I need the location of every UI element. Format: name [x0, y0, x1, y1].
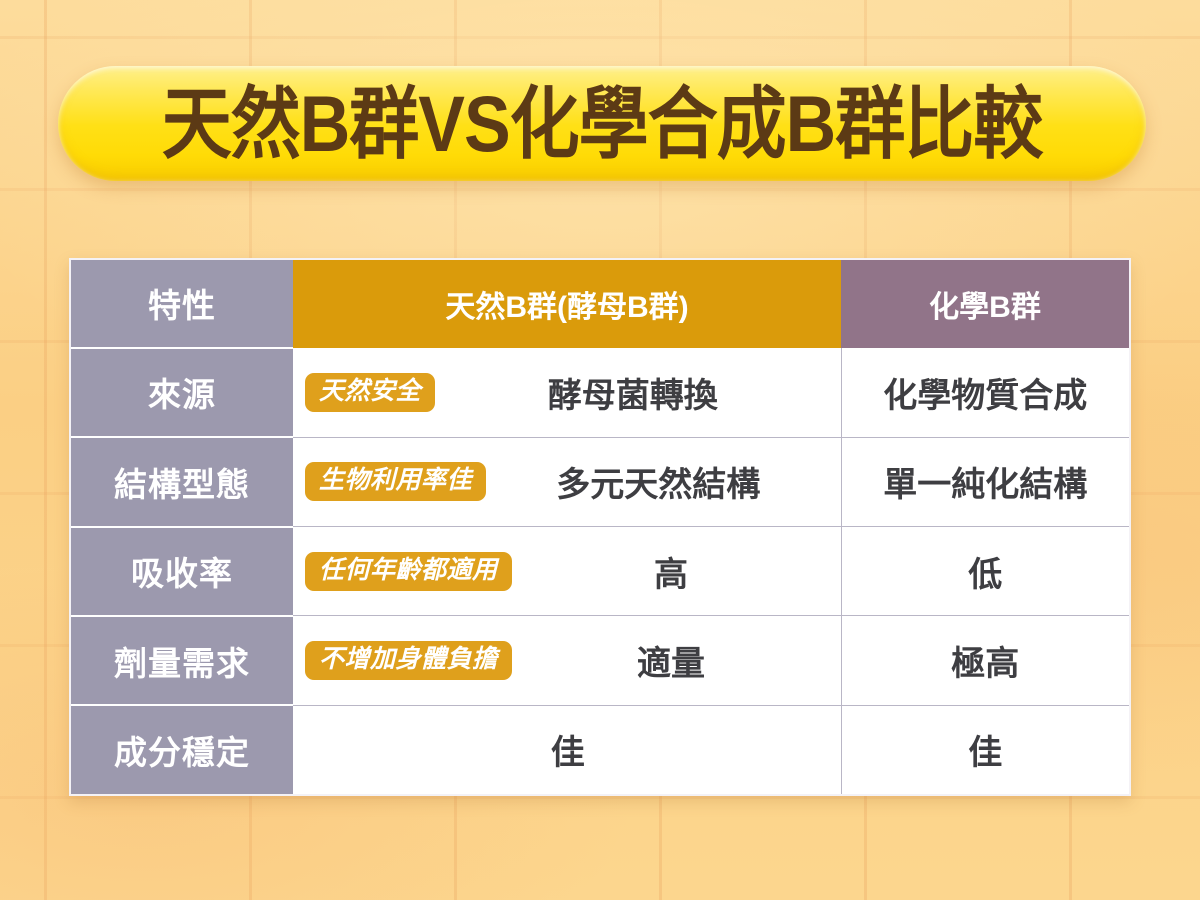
row-chemical-value: 化學物質合成: [841, 348, 1129, 437]
infographic-stage: 天然B群VS化學合成B群比較 特性 天然B群(酵母B群) 化學B群 來源: [0, 0, 1200, 900]
row-natural-cell: 佳: [293, 705, 841, 794]
row-chemical-value: 低: [841, 527, 1129, 616]
comparison-table: 特性 天然B群(酵母B群) 化學B群 來源 天然安全 酵母菌轉換 化學物質合成: [69, 258, 1131, 796]
header-cell-feature: 特性: [71, 260, 293, 348]
row-natural-cell: 不增加身體負擔 適量: [293, 616, 841, 705]
row-chemical-value: 單一純化結構: [841, 437, 1129, 526]
row-chemical-value: 佳: [841, 705, 1129, 794]
title-banner: 天然B群VS化學合成B群比較: [58, 66, 1146, 181]
row-natural-value: 適量: [512, 636, 831, 685]
row-natural-cell: 生物利用率佳 多元天然結構: [293, 437, 841, 526]
table-row: 來源 天然安全 酵母菌轉換 化學物質合成: [71, 348, 1129, 437]
highlight-badge: 任何年齡都適用: [305, 552, 512, 591]
row-feature-label: 結構型態: [71, 437, 293, 526]
row-natural-value: 多元天然結構: [486, 457, 830, 506]
header-cell-natural: 天然B群(酵母B群): [293, 260, 841, 348]
highlight-badge: 天然安全: [305, 373, 435, 412]
row-feature-label: 成分穩定: [71, 705, 293, 794]
row-natural-cell: 任何年齡都適用 高: [293, 527, 841, 616]
highlight-badge: 生物利用率佳: [305, 462, 486, 501]
table-row: 吸收率 任何年齡都適用 高 低: [71, 527, 1129, 616]
highlight-badge: 不增加身體負擔: [305, 641, 512, 680]
row-natural-cell: 天然安全 酵母菌轉換: [293, 348, 841, 437]
row-feature-label: 來源: [71, 348, 293, 437]
table-header-row: 特性 天然B群(酵母B群) 化學B群: [71, 260, 1129, 348]
row-feature-label: 吸收率: [71, 527, 293, 616]
table-row: 成分穩定 佳 佳: [71, 705, 1129, 794]
row-chemical-value: 極高: [841, 616, 1129, 705]
row-feature-label: 劑量需求: [71, 616, 293, 705]
row-natural-value: 酵母菌轉換: [435, 368, 830, 417]
table-row: 劑量需求 不增加身體負擔 適量 極高: [71, 616, 1129, 705]
row-natural-value: 高: [512, 547, 831, 596]
row-natural-value: 佳: [305, 725, 831, 774]
page-title: 天然B群VS化學合成B群比較: [162, 84, 1042, 162]
table-row: 結構型態 生物利用率佳 多元天然結構 單一純化結構: [71, 437, 1129, 526]
header-cell-chemical: 化學B群: [841, 260, 1129, 348]
